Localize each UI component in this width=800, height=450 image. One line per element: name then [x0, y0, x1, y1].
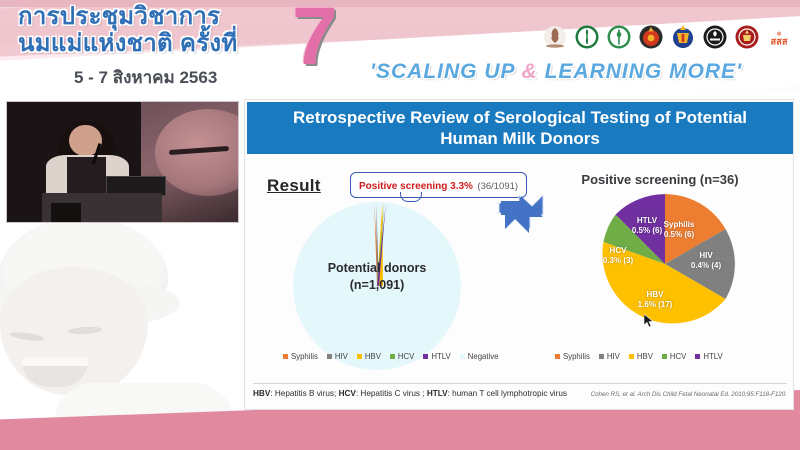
royal-crest-blue-logo — [670, 24, 696, 50]
royal-crest-red-logo — [638, 24, 664, 50]
result-heading: Result — [267, 176, 321, 196]
tagline-part-2: LEARNING MORE' — [538, 60, 742, 83]
legend2-label-hiv: HIV — [607, 352, 620, 361]
legend2-item-hbv: HBV — [629, 352, 653, 361]
callout-fraction: (36/1091) — [477, 181, 518, 192]
positive-screening-title: Positive screening (n=36) — [545, 172, 775, 187]
pie-label-hcv-name: HCV — [593, 246, 643, 256]
potential-donors-title: Potential donors — [293, 260, 461, 277]
conference-date: 5 - 7 สิงหาคม 2563 — [74, 64, 217, 91]
legend2-item-hiv: HIV — [599, 352, 620, 361]
blue-block-arrow — [497, 195, 547, 248]
pie-label-hiv: HIV 0.4% (4) — [682, 251, 730, 272]
hcv-def: : Hepatitis C virus ; — [356, 389, 427, 398]
pie-label-htlv-value: 0.5% (6) — [621, 226, 673, 236]
thaihealth-sss-logo: ❄สสส — [766, 24, 792, 50]
pie-label-hiv-value: 0.4% (4) — [682, 261, 730, 271]
department-of-health-logo — [606, 24, 632, 50]
presentation-slide: Retrospective Review of Serological Test… — [244, 99, 794, 410]
royal-emblem-logo — [542, 24, 568, 50]
legend2-label-hcv: HCV — [670, 352, 686, 361]
tagline-ampersand: & — [522, 60, 538, 83]
legend2-item-htlv: HTLV — [695, 352, 722, 361]
pie-label-hcv-value: 0.3% (3) — [593, 256, 643, 266]
conference-thai-title: การประชุมวิชาการ นมแม่แห่งชาติ ครั้งที่ — [18, 4, 308, 57]
legend-item-syphilis: Syphilis — [283, 352, 318, 361]
legend-label-hiv: HIV — [335, 352, 348, 361]
legend-label-hbv: HBV — [365, 352, 381, 361]
legend-label-hcv: HCV — [398, 352, 414, 361]
pie-label-htlv-name: HTLV — [621, 216, 673, 226]
legend-item-hiv: HIV — [327, 352, 348, 361]
thai-title-line-1: การประชุมวิชาการ — [18, 4, 308, 30]
legend-item-htlv: HTLV — [423, 352, 450, 361]
callout-percent: Positive screening 3.3% — [359, 181, 473, 192]
hbv-def: : Hepatitis B virus; — [270, 389, 338, 398]
presentation-screenshot: การประชุมวิชาการ นมแม่แห่งชาติ ครั้งที่ … — [0, 0, 800, 450]
svg-text:สสส: สสส — [771, 36, 788, 47]
ministry-of-public-health-logo — [574, 24, 600, 50]
conference-tagline: 'SCALING UP & LEARNING MORE' — [370, 60, 742, 84]
pie-label-hbv-name: HBV — [627, 290, 683, 300]
black-seal-logo — [702, 24, 728, 50]
legend-positive-screening: Syphilis HIV HBV HCV HTLV — [555, 352, 723, 361]
slide-footnote: HBV: Hepatitis B virus; HCV: Hepatitis C… — [253, 383, 787, 398]
red-seal-logo — [734, 24, 760, 50]
callout-stem — [400, 192, 422, 202]
legend-item-hcv: HCV — [390, 352, 414, 361]
pie-label-hbv: HBV 1.6% (17) — [627, 290, 683, 311]
legend-potential-donors: Syphilis HIV HBV HCV HTLV Negative — [283, 352, 499, 361]
hcv-key: HCV — [339, 389, 356, 398]
mouse-cursor — [644, 314, 655, 328]
htlv-key: HTLV — [427, 389, 448, 398]
pie-label-hbv-value: 1.6% (17) — [627, 300, 683, 310]
legend-label-htlv: HTLV — [431, 352, 450, 361]
sponsor-logo-row: ❄สสส — [542, 24, 792, 50]
tagline-part-1: 'SCALING UP — [370, 60, 522, 83]
legend2-label-htlv: HTLV — [703, 352, 722, 361]
slide-title: Retrospective Review of Serological Test… — [247, 102, 793, 154]
potential-donors-label: Potential donors (n=1,091) — [293, 260, 461, 294]
legend-item-hbv: HBV — [357, 352, 381, 361]
legend2-label-syphilis: Syphilis — [563, 352, 590, 361]
potential-donors-subtitle: (n=1,091) — [293, 277, 461, 294]
pie-label-hcv: HCV 0.3% (3) — [593, 246, 643, 267]
legend-label-negative: Negative — [468, 352, 499, 361]
legend-item-negative: Negative — [460, 352, 499, 361]
pie-label-hiv-name: HIV — [682, 251, 730, 261]
citation-reference: Cohen RS, et al. Arch Dis Child Fetal Ne… — [591, 391, 787, 398]
abbreviation-definitions: HBV: Hepatitis B virus; HCV: Hepatitis C… — [253, 389, 567, 398]
hbv-key: HBV — [253, 389, 270, 398]
thai-title-line-2: นมแม่แห่งชาติ ครั้งที่ — [18, 31, 308, 57]
speaker-video-feed[interactable] — [6, 101, 239, 223]
htlv-def: : human T cell lymphotropic virus — [448, 389, 567, 398]
legend2-item-syphilis: Syphilis — [555, 352, 590, 361]
legend2-item-hcv: HCV — [662, 352, 686, 361]
pie-label-htlv: HTLV 0.5% (6) — [621, 216, 673, 237]
legend2-label-hbv: HBV — [637, 352, 653, 361]
edition-number: 7 — [292, 0, 338, 78]
legend-label-syphilis: Syphilis — [291, 352, 318, 361]
